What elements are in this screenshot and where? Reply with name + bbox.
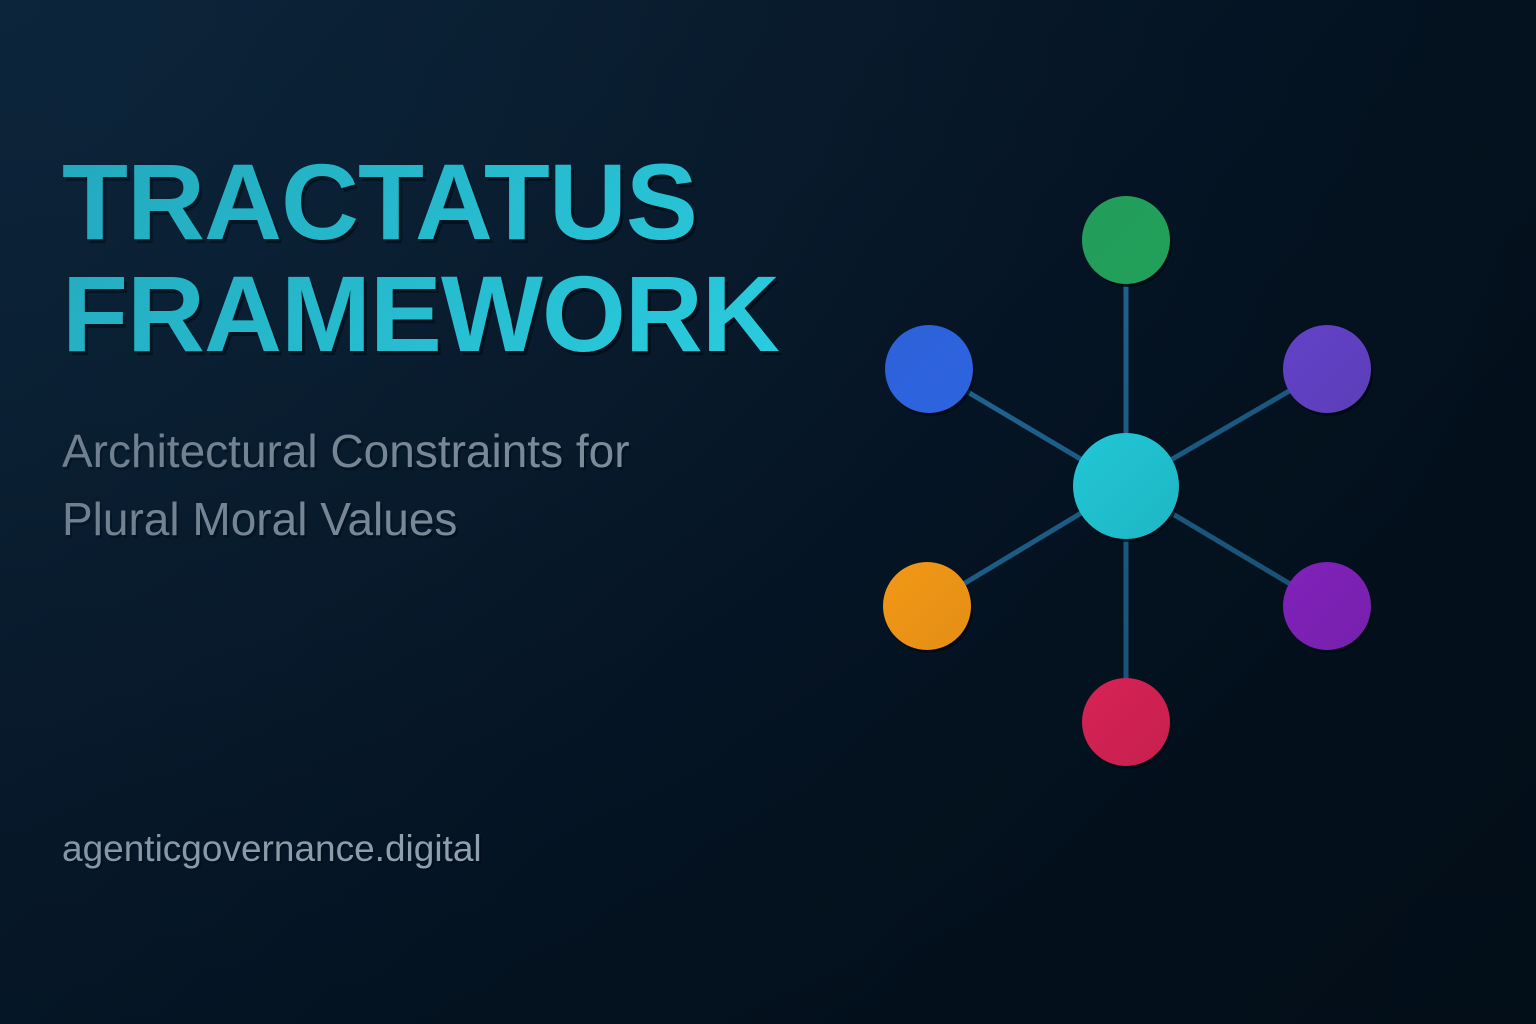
page-title: TRACTATUS FRAMEWORK — [62, 146, 779, 370]
node-upper-left[interactable] — [885, 325, 973, 413]
node-lower-right[interactable] — [1283, 562, 1371, 650]
core-node[interactable] — [1073, 433, 1179, 539]
node-diagram-svg — [846, 150, 1406, 800]
page-subtitle: Architectural Constraints for Plural Mor… — [62, 417, 802, 553]
footer-url: agenticgovernance.digital — [62, 826, 482, 872]
poster-canvas: TRACTATUS FRAMEWORK Architectural Constr… — [0, 0, 1536, 1024]
node-lower-left[interactable] — [883, 562, 971, 650]
diagram-nodes — [883, 196, 1373, 769]
node-upper-right[interactable] — [1283, 325, 1371, 413]
node-diagram — [846, 150, 1406, 800]
node-bottom[interactable] — [1082, 678, 1170, 766]
node-top[interactable] — [1082, 196, 1170, 284]
hero-text-column: TRACTATUS FRAMEWORK Architectural Constr… — [62, 0, 822, 1024]
